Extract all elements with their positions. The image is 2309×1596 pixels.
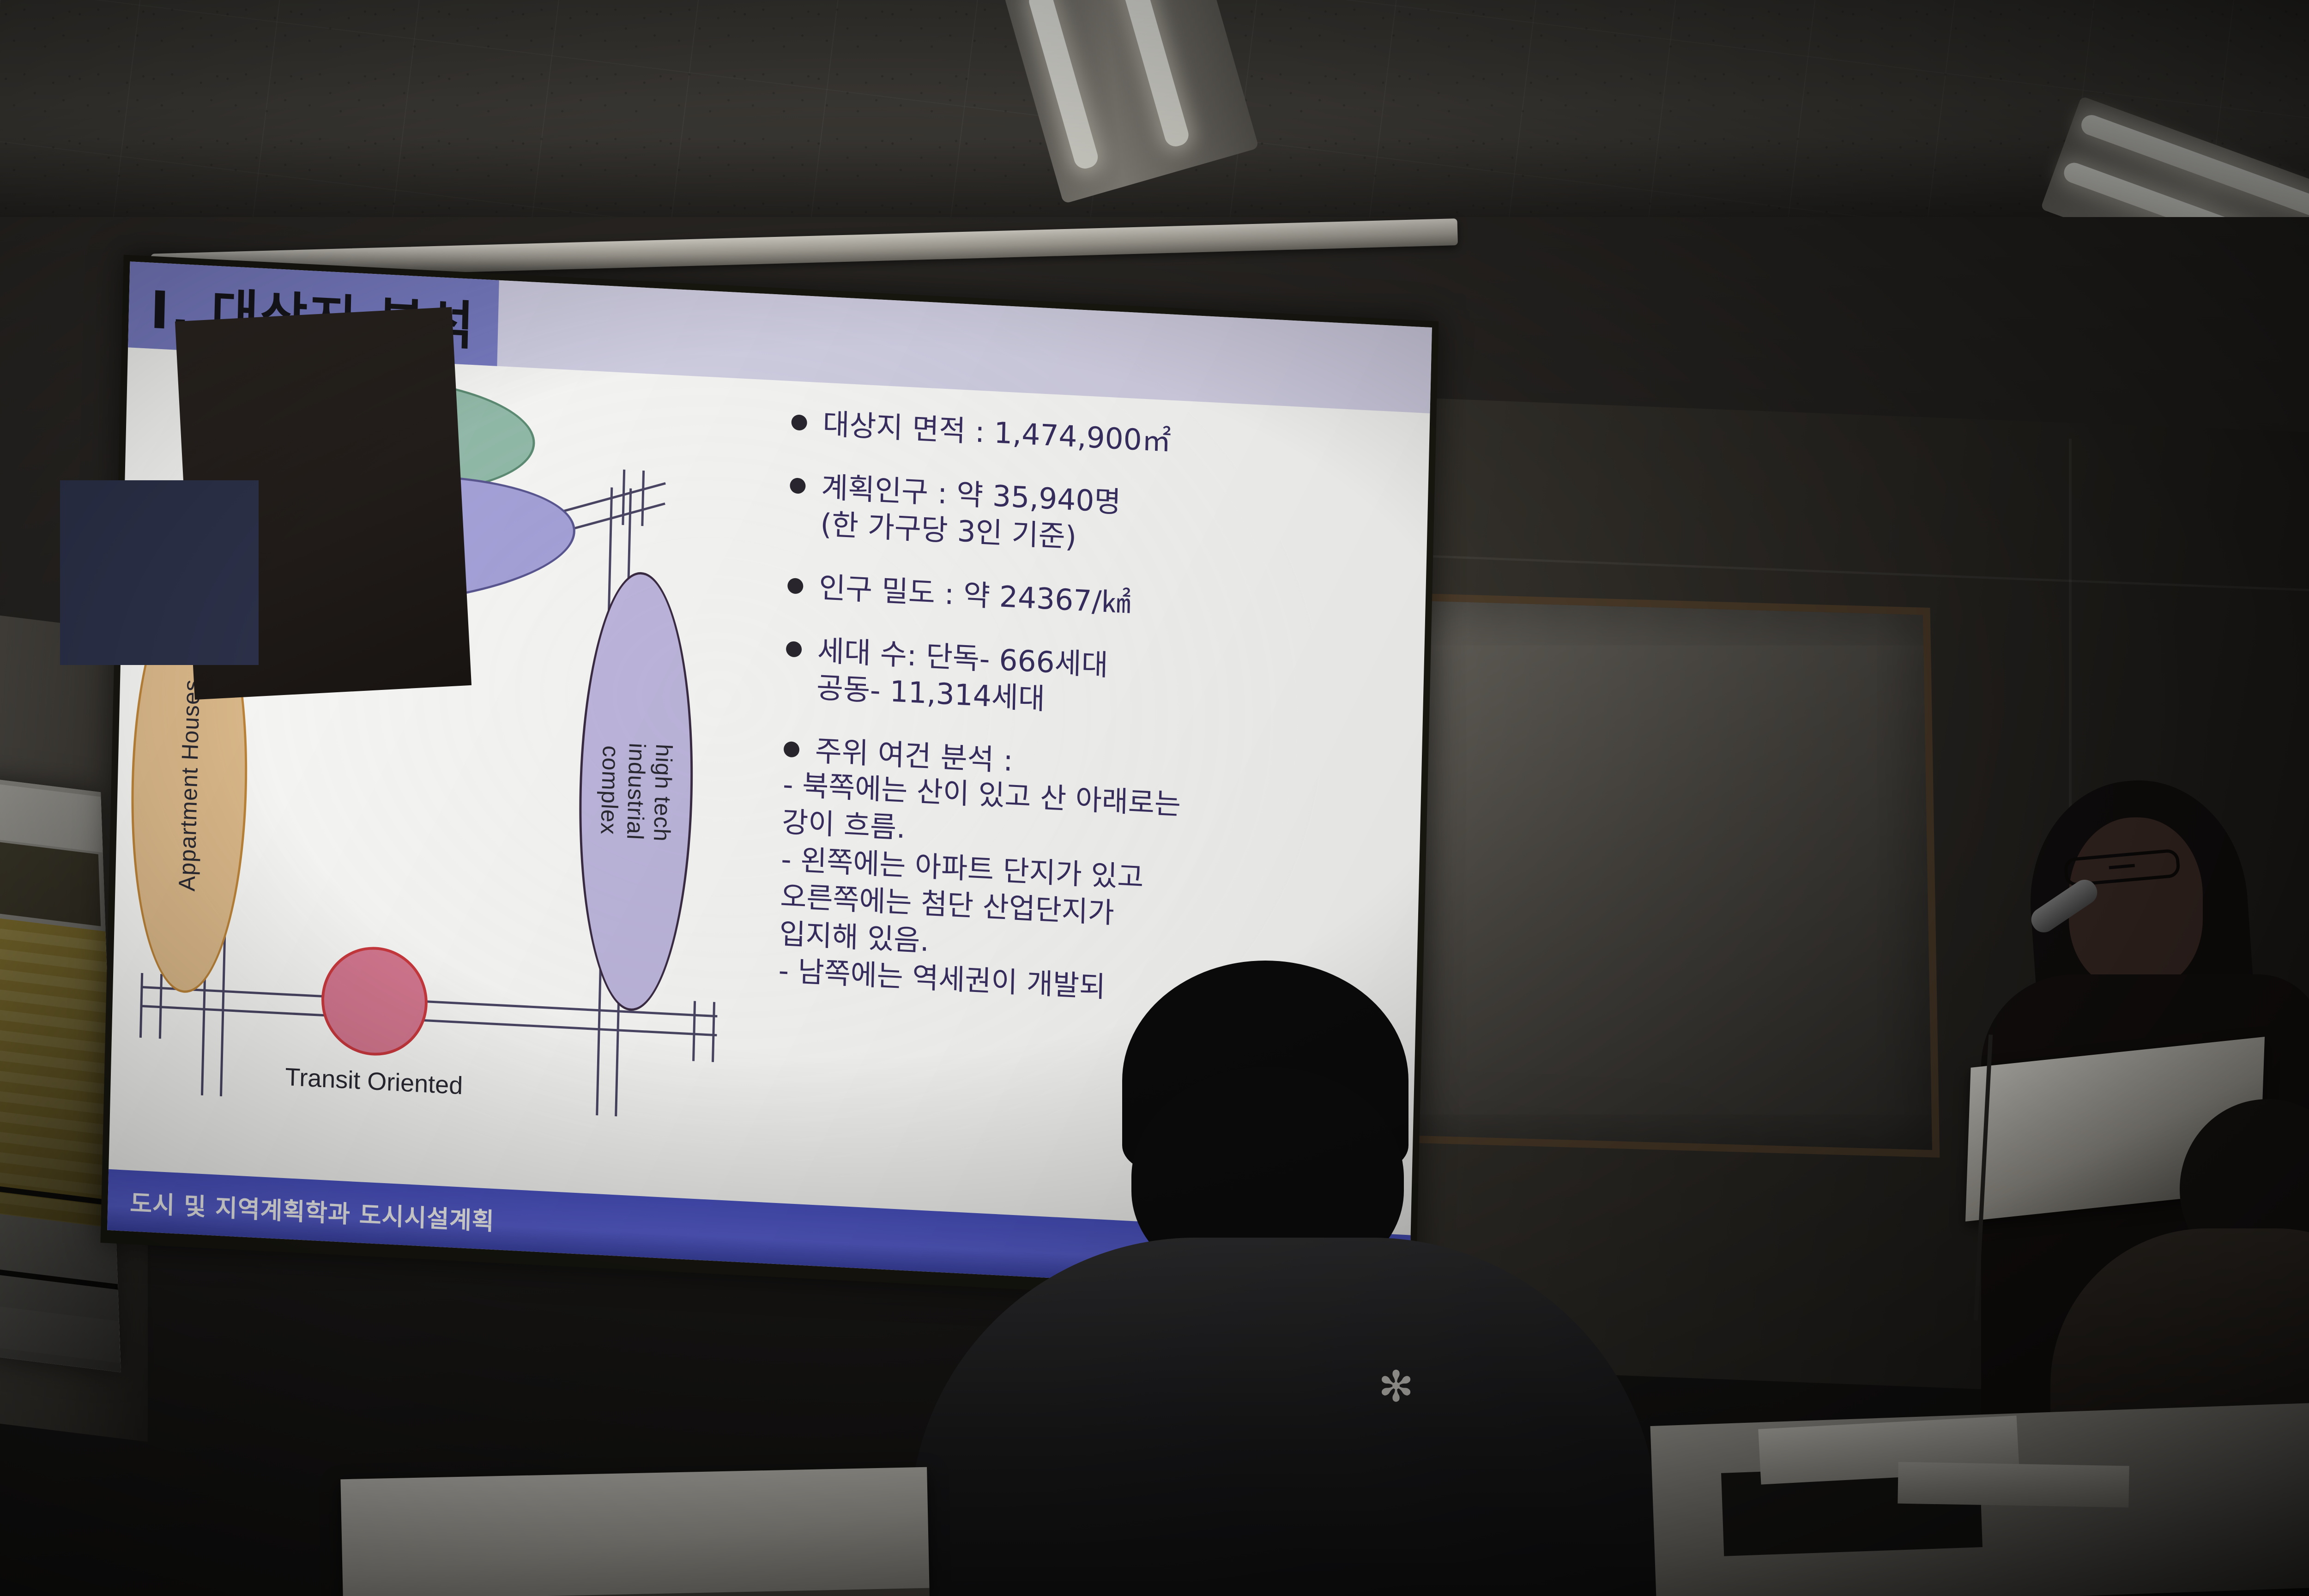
bullet-dot-icon	[791, 414, 807, 431]
slide-bullet-list: 대상지 면적 : 1,474,900㎡ 계획인구 : 약 35,940명 (한 …	[778, 404, 1406, 1021]
slide-footer-text: 도시 및 지역계획학과 도시시설계획	[108, 1182, 495, 1236]
audience-hoodie	[910, 1238, 1658, 1596]
bullet-item: 인구 밀도 : 약 24367/㎢	[787, 568, 1402, 636]
bullet-dot-icon	[786, 641, 802, 657]
bullet-dot-icon	[787, 578, 804, 594]
region-high-tech-industrial-complex-label: high tech industrial complex	[595, 735, 677, 848]
audience-member-front: ✻	[854, 961, 1686, 1596]
region-apartment-houses-label: Appartment Houses	[174, 678, 205, 892]
bullet-item: 세대 수: 단독- 666세대 공동- 11,314세대	[785, 630, 1400, 736]
bullet-text: 계획인구 : 약 35,940명 (한 가구당 3인 기준)	[820, 469, 1122, 558]
bullet-dot-icon	[784, 741, 800, 758]
region-high-tech-industrial-complex[interactable]: high tech industrial complex	[574, 569, 698, 1014]
desk-left	[340, 1467, 929, 1596]
bullet-text: 인구 밀도 : 약 24367/㎢	[818, 569, 1131, 622]
bullet-text: 세대 수: 단독- 666세대 공동- 11,314세대	[816, 632, 1108, 721]
paper-stack	[1898, 1462, 2129, 1508]
bullet-dot-icon	[790, 478, 806, 494]
bullet-text: 대상지 면적 : 1,474,900㎡	[822, 406, 1172, 461]
desk-edge	[343, 1588, 930, 1596]
region-transit-oriented-node[interactable]	[320, 944, 429, 1058]
lecture-room-scene: Ⅰ. 대상지 분석	[0, 0, 2309, 1596]
snowflake-logo-icon: ✻	[1376, 1367, 1416, 1407]
region-transit-oriented-label: Transit Oriented	[263, 1062, 485, 1101]
bullet-item: 계획인구 : 약 35,940명 (한 가구당 3인 기준)	[789, 467, 1404, 573]
lectern-front-panel	[60, 480, 259, 665]
bullet-item: 대상지 면적 : 1,474,900㎡	[791, 404, 1406, 472]
